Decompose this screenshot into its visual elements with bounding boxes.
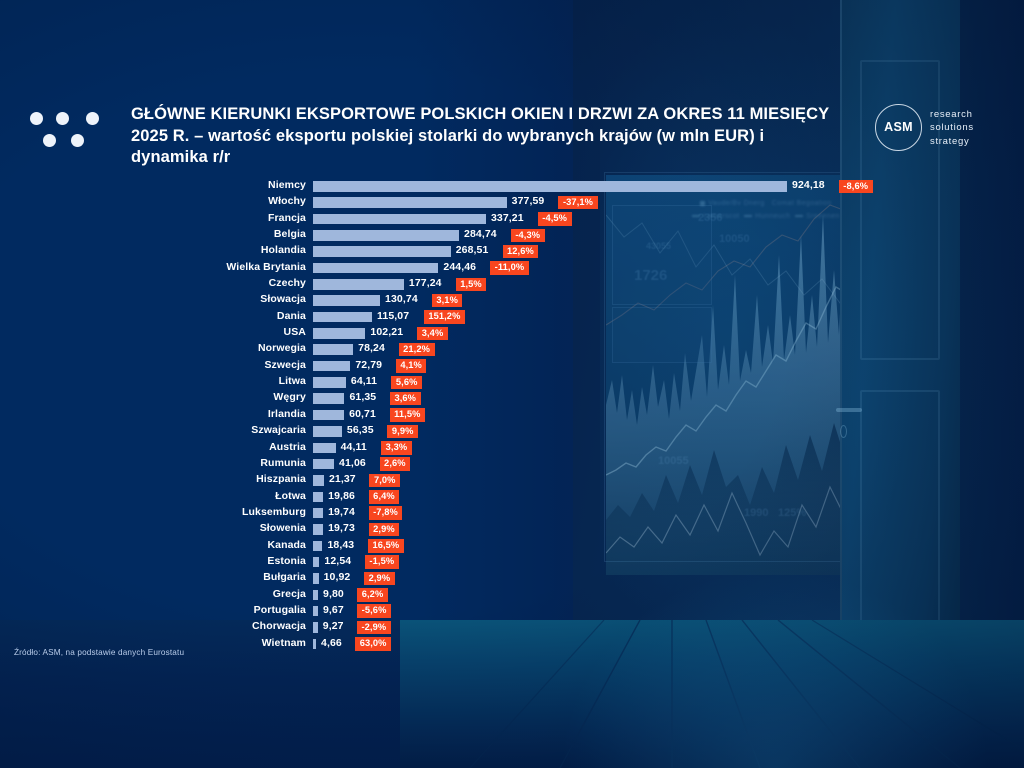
infographic-content: GŁÓWNE KIERUNKI EKSPORTOWE POLSKICH OKIE…	[0, 0, 1024, 768]
value-label: 9,67	[323, 604, 344, 616]
value-bar	[313, 622, 318, 633]
value-label: 377,59	[512, 195, 545, 207]
category-label: Belgia	[46, 228, 306, 240]
category-label: Francja	[46, 212, 306, 224]
chart-row: Węgry61,353,6%	[0, 390, 1024, 406]
chart-row: Holandia268,5112,6%	[0, 243, 1024, 259]
value-bar	[313, 524, 323, 535]
value-bar	[313, 312, 372, 323]
chart-row: Łotwa19,866,4%	[0, 489, 1024, 505]
value-bar	[313, 279, 404, 290]
chart-row: Irlandia60,7111,5%	[0, 407, 1024, 423]
category-label: Portugalia	[46, 604, 306, 616]
category-label: Słowacja	[46, 293, 306, 305]
value-bar	[313, 246, 451, 257]
chart-row: Luksemburg19,74-7,8%	[0, 505, 1024, 521]
growth-badge: 9,9%	[387, 425, 418, 439]
growth-badge: 12,6%	[503, 245, 539, 259]
growth-badge: -1,5%	[365, 555, 399, 569]
value-bar	[313, 590, 318, 601]
export-bar-chart: Niemcy924,18-8,6%Włochy377,59-37,1%Franc…	[0, 178, 1024, 652]
value-label: 61,35	[349, 391, 376, 403]
logo-tagline: research solutions strategy	[930, 108, 974, 148]
value-bar	[313, 606, 318, 617]
category-label: Wielka Brytania	[46, 261, 306, 273]
value-bar	[313, 459, 334, 470]
category-label: Litwa	[46, 375, 306, 387]
chart-row: Francja337,21-4,5%	[0, 211, 1024, 227]
growth-badge: 63,0%	[355, 637, 391, 651]
value-label: 102,21	[370, 326, 403, 338]
value-bar	[313, 426, 342, 437]
growth-badge: 2,9%	[369, 523, 400, 537]
category-label: Irlandia	[46, 408, 306, 420]
value-label: 9,80	[323, 588, 344, 600]
category-label: Szwajcaria	[46, 424, 306, 436]
growth-badge: 2,6%	[380, 457, 411, 471]
category-label: Holandia	[46, 244, 306, 256]
chart-row: Norwegia78,2421,2%	[0, 341, 1024, 357]
value-bar	[313, 508, 323, 519]
category-label: Austria	[46, 441, 306, 453]
growth-badge: 3,4%	[417, 327, 448, 341]
value-label: 177,24	[409, 277, 442, 289]
value-bar	[313, 492, 323, 503]
value-bar	[313, 361, 350, 372]
value-label: 56,35	[347, 424, 374, 436]
value-label: 44,11	[341, 441, 367, 453]
category-label: Grecja	[46, 588, 306, 600]
growth-badge: 11,5%	[390, 408, 425, 422]
category-label: Wietnam	[46, 637, 306, 649]
value-bar	[313, 214, 486, 225]
value-bar	[313, 557, 319, 568]
value-bar	[313, 377, 346, 388]
value-bar	[313, 393, 344, 404]
value-label: 10,92	[324, 571, 351, 583]
growth-badge: 3,3%	[381, 441, 412, 455]
value-label: 64,11	[351, 375, 377, 387]
value-bar	[313, 344, 353, 355]
chart-row: Hiszpania21,377,0%	[0, 472, 1024, 488]
category-label: Estonia	[46, 555, 306, 567]
value-label: 12,54	[324, 555, 351, 567]
category-label: Norwegia	[46, 342, 306, 354]
chart-row: Belgia284,74-4,3%	[0, 227, 1024, 243]
category-label: Węgry	[46, 391, 306, 403]
chart-row: Słowacja130,743,1%	[0, 292, 1024, 308]
logo-tagline-line-2: solutions	[930, 121, 974, 134]
growth-badge: 1,5%	[456, 278, 487, 292]
value-label: 337,21	[491, 212, 524, 224]
chart-row: Wielka Brytania244,46-11,0%	[0, 260, 1024, 276]
growth-badge: 3,6%	[390, 392, 421, 406]
value-label: 9,27	[323, 620, 344, 632]
logo-tagline-line-3: strategy	[930, 135, 974, 148]
category-label: USA	[46, 326, 306, 338]
category-label: Włochy	[46, 195, 306, 207]
growth-badge: -4,5%	[538, 212, 572, 226]
value-bar	[313, 230, 459, 241]
value-label: 41,06	[339, 457, 366, 469]
chart-row: Bułgaria10,922,9%	[0, 570, 1024, 586]
chart-row: Włochy377,59-37,1%	[0, 194, 1024, 210]
growth-badge: -11,0%	[490, 261, 529, 275]
chart-row: Słowenia19,732,9%	[0, 521, 1024, 537]
chart-row: Grecja9,806,2%	[0, 587, 1024, 603]
chart-row: Austria44,113,3%	[0, 440, 1024, 456]
chart-row: Estonia12,54-1,5%	[0, 554, 1024, 570]
chart-row: Czechy177,241,5%	[0, 276, 1024, 292]
chart-row: Szwecja72,794,1%	[0, 358, 1024, 374]
growth-badge: 16,5%	[368, 539, 404, 553]
value-label: 18,43	[327, 539, 354, 551]
value-bar	[313, 328, 365, 339]
value-label: 19,73	[328, 522, 355, 534]
category-label: Bułgaria	[46, 571, 306, 583]
logo-circle-icon: ASM	[875, 104, 922, 151]
page-title: GŁÓWNE KIERUNKI EKSPORTOWE POLSKICH OKIE…	[131, 104, 831, 169]
growth-badge: -5,6%	[357, 604, 391, 618]
category-label: Luksemburg	[46, 506, 306, 518]
value-label: 60,71	[349, 408, 376, 420]
category-label: Rumunia	[46, 457, 306, 469]
logo-mark: ASM	[876, 120, 921, 134]
category-label: Niemcy	[46, 179, 306, 191]
value-label: 21,37	[329, 473, 356, 485]
growth-badge: 6,2%	[357, 588, 388, 602]
source-note: Źródło: ASM, na podstawie danych Eurosta…	[14, 648, 184, 657]
value-label: 924,18	[792, 179, 825, 191]
growth-badge: -37,1%	[558, 196, 597, 210]
chart-row: Litwa64,115,6%	[0, 374, 1024, 390]
growth-badge: 4,1%	[396, 359, 427, 373]
category-label: Kanada	[46, 539, 306, 551]
value-bar	[313, 197, 507, 208]
growth-badge: -8,6%	[839, 180, 873, 194]
value-label: 4,66	[321, 637, 342, 649]
value-label: 115,07	[377, 310, 409, 322]
chart-row: Dania115,07151,2%	[0, 309, 1024, 325]
value-label: 19,74	[328, 506, 355, 518]
growth-badge: 151,2%	[424, 310, 465, 324]
growth-badge: -4,3%	[511, 229, 545, 243]
growth-badge: -7,8%	[369, 506, 403, 520]
chart-row: Niemcy924,18-8,6%	[0, 178, 1024, 194]
chart-row: Chorwacja9,27-2,9%	[0, 619, 1024, 635]
value-label: 284,74	[464, 228, 497, 240]
chart-row: Szwajcaria56,359,9%	[0, 423, 1024, 439]
growth-badge: -2,9%	[357, 621, 391, 635]
growth-badge: 5,6%	[391, 376, 422, 390]
category-label: Chorwacja	[46, 620, 306, 632]
growth-badge: 21,2%	[399, 343, 435, 357]
category-label: Czechy	[46, 277, 306, 289]
category-label: Słowenia	[46, 522, 306, 534]
value-label: 19,86	[328, 490, 355, 502]
value-label: 244,46	[443, 261, 476, 273]
chart-row: Rumunia41,062,6%	[0, 456, 1024, 472]
growth-badge: 6,4%	[369, 490, 400, 504]
value-label: 72,79	[355, 359, 382, 371]
value-bar	[313, 573, 319, 584]
chart-row: Kanada18,4316,5%	[0, 538, 1024, 554]
value-bar	[313, 541, 322, 552]
value-bar	[313, 639, 316, 650]
chart-row: Portugalia9,67-5,6%	[0, 603, 1024, 619]
value-bar	[313, 410, 344, 421]
value-label: 268,51	[456, 244, 489, 256]
chart-row: USA102,213,4%	[0, 325, 1024, 341]
value-label: 78,24	[358, 342, 385, 354]
value-bar	[313, 263, 438, 274]
value-bar	[313, 295, 380, 306]
growth-badge: 2,9%	[364, 572, 395, 586]
category-label: Szwecja	[46, 359, 306, 371]
value-bar	[313, 475, 324, 486]
value-bar	[313, 181, 787, 192]
value-bar	[313, 443, 336, 454]
category-label: Łotwa	[46, 490, 306, 502]
logo-tagline-line-1: research	[930, 108, 974, 121]
growth-badge: 7,0%	[369, 474, 400, 488]
five-dots-decoration-icon	[30, 112, 102, 152]
category-label: Dania	[46, 310, 306, 322]
asm-logo: ASM research solutions strategy	[875, 100, 1005, 158]
value-label: 130,74	[385, 293, 418, 305]
growth-badge: 3,1%	[432, 294, 463, 308]
category-label: Hiszpania	[46, 473, 306, 485]
